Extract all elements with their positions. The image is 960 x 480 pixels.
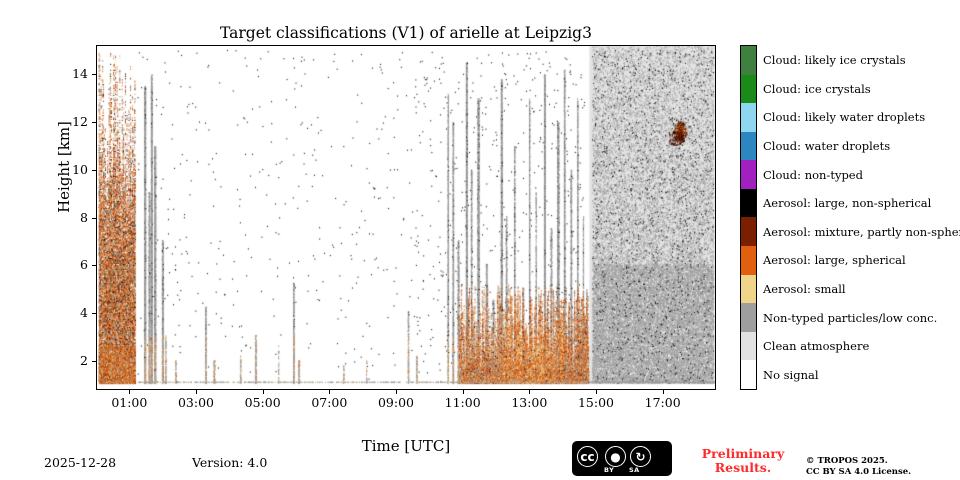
x-tick-mark xyxy=(196,390,197,394)
colorbar-segment xyxy=(741,332,756,361)
copyright-line1: © TROPOS 2025. xyxy=(806,456,888,466)
colorbar-label: Cloud: water droplets xyxy=(763,139,890,153)
colorbar-segment xyxy=(741,189,756,218)
colorbar-segment xyxy=(741,46,756,75)
plot-area[interactable] xyxy=(96,45,716,390)
y-tick-mark xyxy=(92,361,96,362)
colorbar-segment xyxy=(741,275,756,304)
colorbar[interactable] xyxy=(740,45,757,390)
y-tick-label: 2 xyxy=(48,353,88,368)
colorbar-label: Aerosol: large, spherical xyxy=(763,253,906,267)
preliminary-line2: Results. xyxy=(715,460,771,475)
x-tick-mark xyxy=(596,390,597,394)
cc-sa-text: SA xyxy=(629,466,640,474)
x-tick-label: 11:00 xyxy=(433,395,493,410)
colorbar-label: Aerosol: small xyxy=(763,282,846,296)
colorbar-segment xyxy=(741,160,756,189)
cc-by-text: BY xyxy=(604,466,614,474)
y-tick-label: 8 xyxy=(48,210,88,225)
colorbar-segment xyxy=(741,103,756,132)
cc-icon: cc xyxy=(577,446,598,467)
x-tick-label: 17:00 xyxy=(633,395,693,410)
colorbar-segment xyxy=(741,75,756,104)
copyright-line2: CC BY SA 4.0 License. xyxy=(806,467,911,477)
y-tick-label: 14 xyxy=(48,66,88,81)
colorbar-label: Cloud: likely water droplets xyxy=(763,110,925,124)
person-icon: ● xyxy=(605,446,626,467)
y-tick-label: 12 xyxy=(48,114,88,129)
y-tick-mark xyxy=(92,74,96,75)
preliminary-line1: Preliminary xyxy=(702,446,784,461)
colorbar-label: Cloud: ice crystals xyxy=(763,82,871,96)
x-tick-label: 01:00 xyxy=(99,395,159,410)
x-tick-mark xyxy=(329,390,330,394)
preliminary-results-note: Preliminary Results. xyxy=(693,447,793,475)
copyright-note: © TROPOS 2025. CC BY SA 4.0 License. xyxy=(806,456,911,478)
share-alike-icon: ↻ xyxy=(630,446,651,467)
colorbar-segment xyxy=(741,217,756,246)
footer-version: Version: 4.0 xyxy=(192,455,267,470)
colorbar-label: Clean atmosphere xyxy=(763,339,869,353)
colorbar-label: No signal xyxy=(763,368,819,382)
colorbar-label: Aerosol: large, non-spherical xyxy=(763,196,931,210)
x-tick-mark xyxy=(663,390,664,394)
x-tick-mark xyxy=(463,390,464,394)
y-tick-label: 6 xyxy=(48,257,88,272)
colorbar-label: Non-typed particles/low conc. xyxy=(763,311,937,325)
x-tick-mark xyxy=(529,390,530,394)
x-tick-label: 13:00 xyxy=(499,395,559,410)
cc-license-badge[interactable]: cc ● ↻ BY SA xyxy=(572,441,672,476)
y-tick-mark xyxy=(92,218,96,219)
y-tick-mark xyxy=(92,265,96,266)
x-tick-label: 09:00 xyxy=(366,395,426,410)
x-tick-label: 03:00 xyxy=(166,395,226,410)
figure-root: Target classifications (V1) of arielle a… xyxy=(0,0,960,480)
x-tick-mark xyxy=(129,390,130,394)
x-tick-label: 07:00 xyxy=(299,395,359,410)
x-tick-mark xyxy=(263,390,264,394)
colorbar-segment xyxy=(741,360,756,389)
colorbar-segment xyxy=(741,132,756,161)
x-tick-label: 05:00 xyxy=(233,395,293,410)
footer-date: 2025-12-28 xyxy=(44,455,116,470)
colorbar-label: Cloud: likely ice crystals xyxy=(763,53,906,67)
y-tick-mark xyxy=(92,122,96,123)
colorbar-label: Cloud: non-typed xyxy=(763,168,863,182)
classification-heatmap xyxy=(97,46,715,389)
y-tick-mark xyxy=(92,313,96,314)
colorbar-segment xyxy=(741,246,756,275)
x-tick-mark xyxy=(396,390,397,394)
y-tick-label: 4 xyxy=(48,305,88,320)
y-tick-label: 10 xyxy=(48,162,88,177)
x-tick-label: 15:00 xyxy=(566,395,626,410)
page-title: Target classifications (V1) of arielle a… xyxy=(96,24,716,42)
colorbar-label: Aerosol: mixture, partly non-spherical xyxy=(763,225,960,239)
y-tick-mark xyxy=(92,170,96,171)
colorbar-segment xyxy=(741,303,756,332)
